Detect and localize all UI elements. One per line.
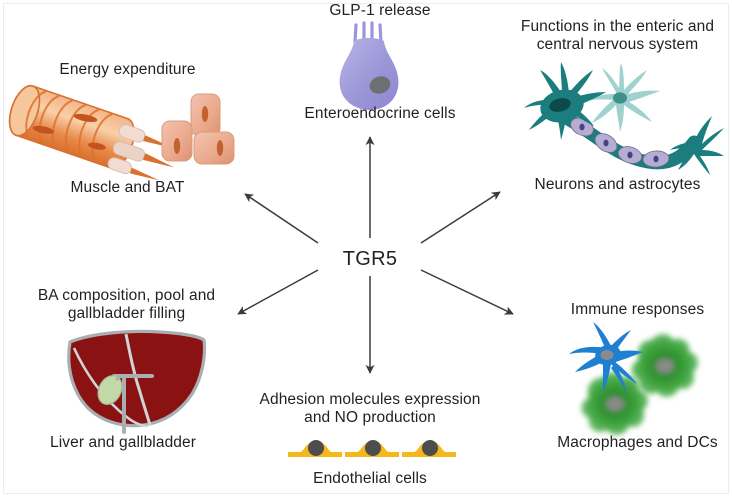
label-endothelial-cells: Endothelial cells [270, 470, 470, 488]
macrophage [582, 372, 648, 435]
tgr5-signaling-diagram: TGR5 GLP-1 release Enteroendocrine cells [0, 0, 732, 497]
label-enteroendocrine-cells: Enteroendocrine cells [280, 105, 480, 123]
enteroendocrine-cell-art [334, 22, 408, 114]
label-glp1-release: GLP-1 release [280, 2, 480, 20]
hub-label-tgr5: TGR5 [320, 248, 420, 271]
bat-cells [162, 94, 234, 164]
label-energy-expenditure: Energy expenditure [20, 61, 235, 79]
endothelial-cell [402, 440, 456, 457]
endothelial-cell [345, 440, 399, 457]
arrow-to-liver [238, 270, 318, 314]
endothelial-cell [288, 440, 342, 457]
label-adhesion-molecules: Adhesion molecules expression and NO pro… [245, 391, 495, 427]
label-macrophages-and-dcs: Macrophages and DCs [545, 434, 730, 452]
myelinated-axon [566, 115, 694, 168]
neuron-and-astrocyte-art [518, 58, 724, 176]
label-liver-and-gallbladder: Liver and gallbladder [18, 434, 228, 452]
label-immune-responses: Immune responses [545, 301, 730, 319]
endothelial-cell-row-art [286, 432, 458, 462]
liver-and-gallbladder-art [52, 326, 212, 441]
label-ba-composition: BA composition, pool and gallbladder fil… [14, 287, 239, 323]
label-muscle-and-bat: Muscle and BAT [35, 179, 220, 197]
axon-terminal [670, 116, 724, 175]
arrow-to-neurons [421, 192, 500, 243]
astrocyte-art [587, 63, 660, 132]
arrow-to-immune [421, 270, 513, 314]
macrophage [632, 334, 698, 397]
arrow-to-muscle-bat [245, 194, 318, 243]
macrophage-and-dendritic-cell-art [565, 322, 705, 437]
label-enteric-cns-functions: Functions in the enteric and central ner… [505, 18, 730, 54]
label-neurons-and-astrocytes: Neurons and astrocytes [505, 176, 730, 194]
muscle-fiber-and-bat-art [4, 88, 244, 180]
